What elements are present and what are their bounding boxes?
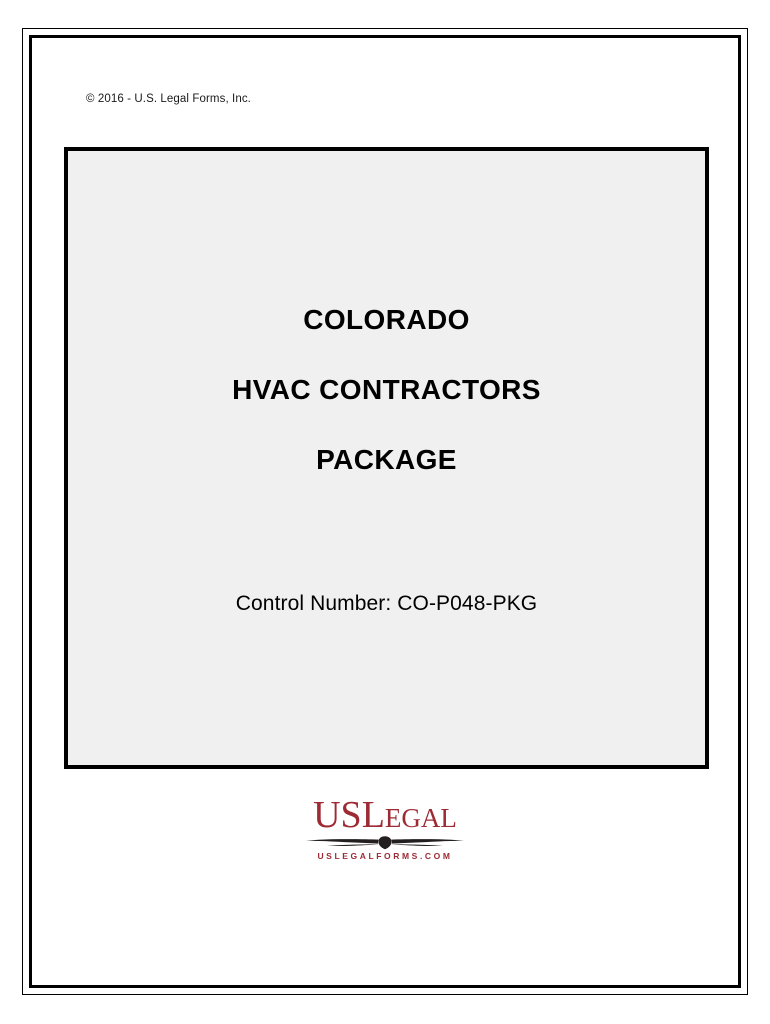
title-line-state: COLORADO bbox=[68, 285, 705, 355]
uslegal-logo: USLEGAL USLEGALFORMS.COM bbox=[0, 796, 770, 861]
copyright-notice: © 2016 - U.S. Legal Forms, Inc. bbox=[86, 93, 251, 105]
title-line-category: HVAC CONTRACTORS bbox=[68, 355, 705, 425]
logo-text-egal: EGAL bbox=[385, 803, 457, 833]
logo-wordmark: USLEGAL bbox=[313, 796, 457, 834]
title-block: COLORADO HVAC CONTRACTORS PACKAGE bbox=[68, 285, 705, 495]
title-panel: COLORADO HVAC CONTRACTORS PACKAGE Contro… bbox=[64, 147, 709, 769]
logo-text-us: US bbox=[313, 794, 362, 836]
control-number: Control Number: CO-P048-PKG bbox=[68, 592, 705, 616]
logo-tagline: USLEGALFORMS.COM bbox=[0, 851, 770, 861]
eagle-wings-icon bbox=[305, 835, 465, 851]
document-page: © 2016 - U.S. Legal Forms, Inc. COLORADO… bbox=[0, 0, 770, 1024]
logo-text-l: L bbox=[362, 794, 385, 836]
title-line-package: PACKAGE bbox=[68, 425, 705, 495]
